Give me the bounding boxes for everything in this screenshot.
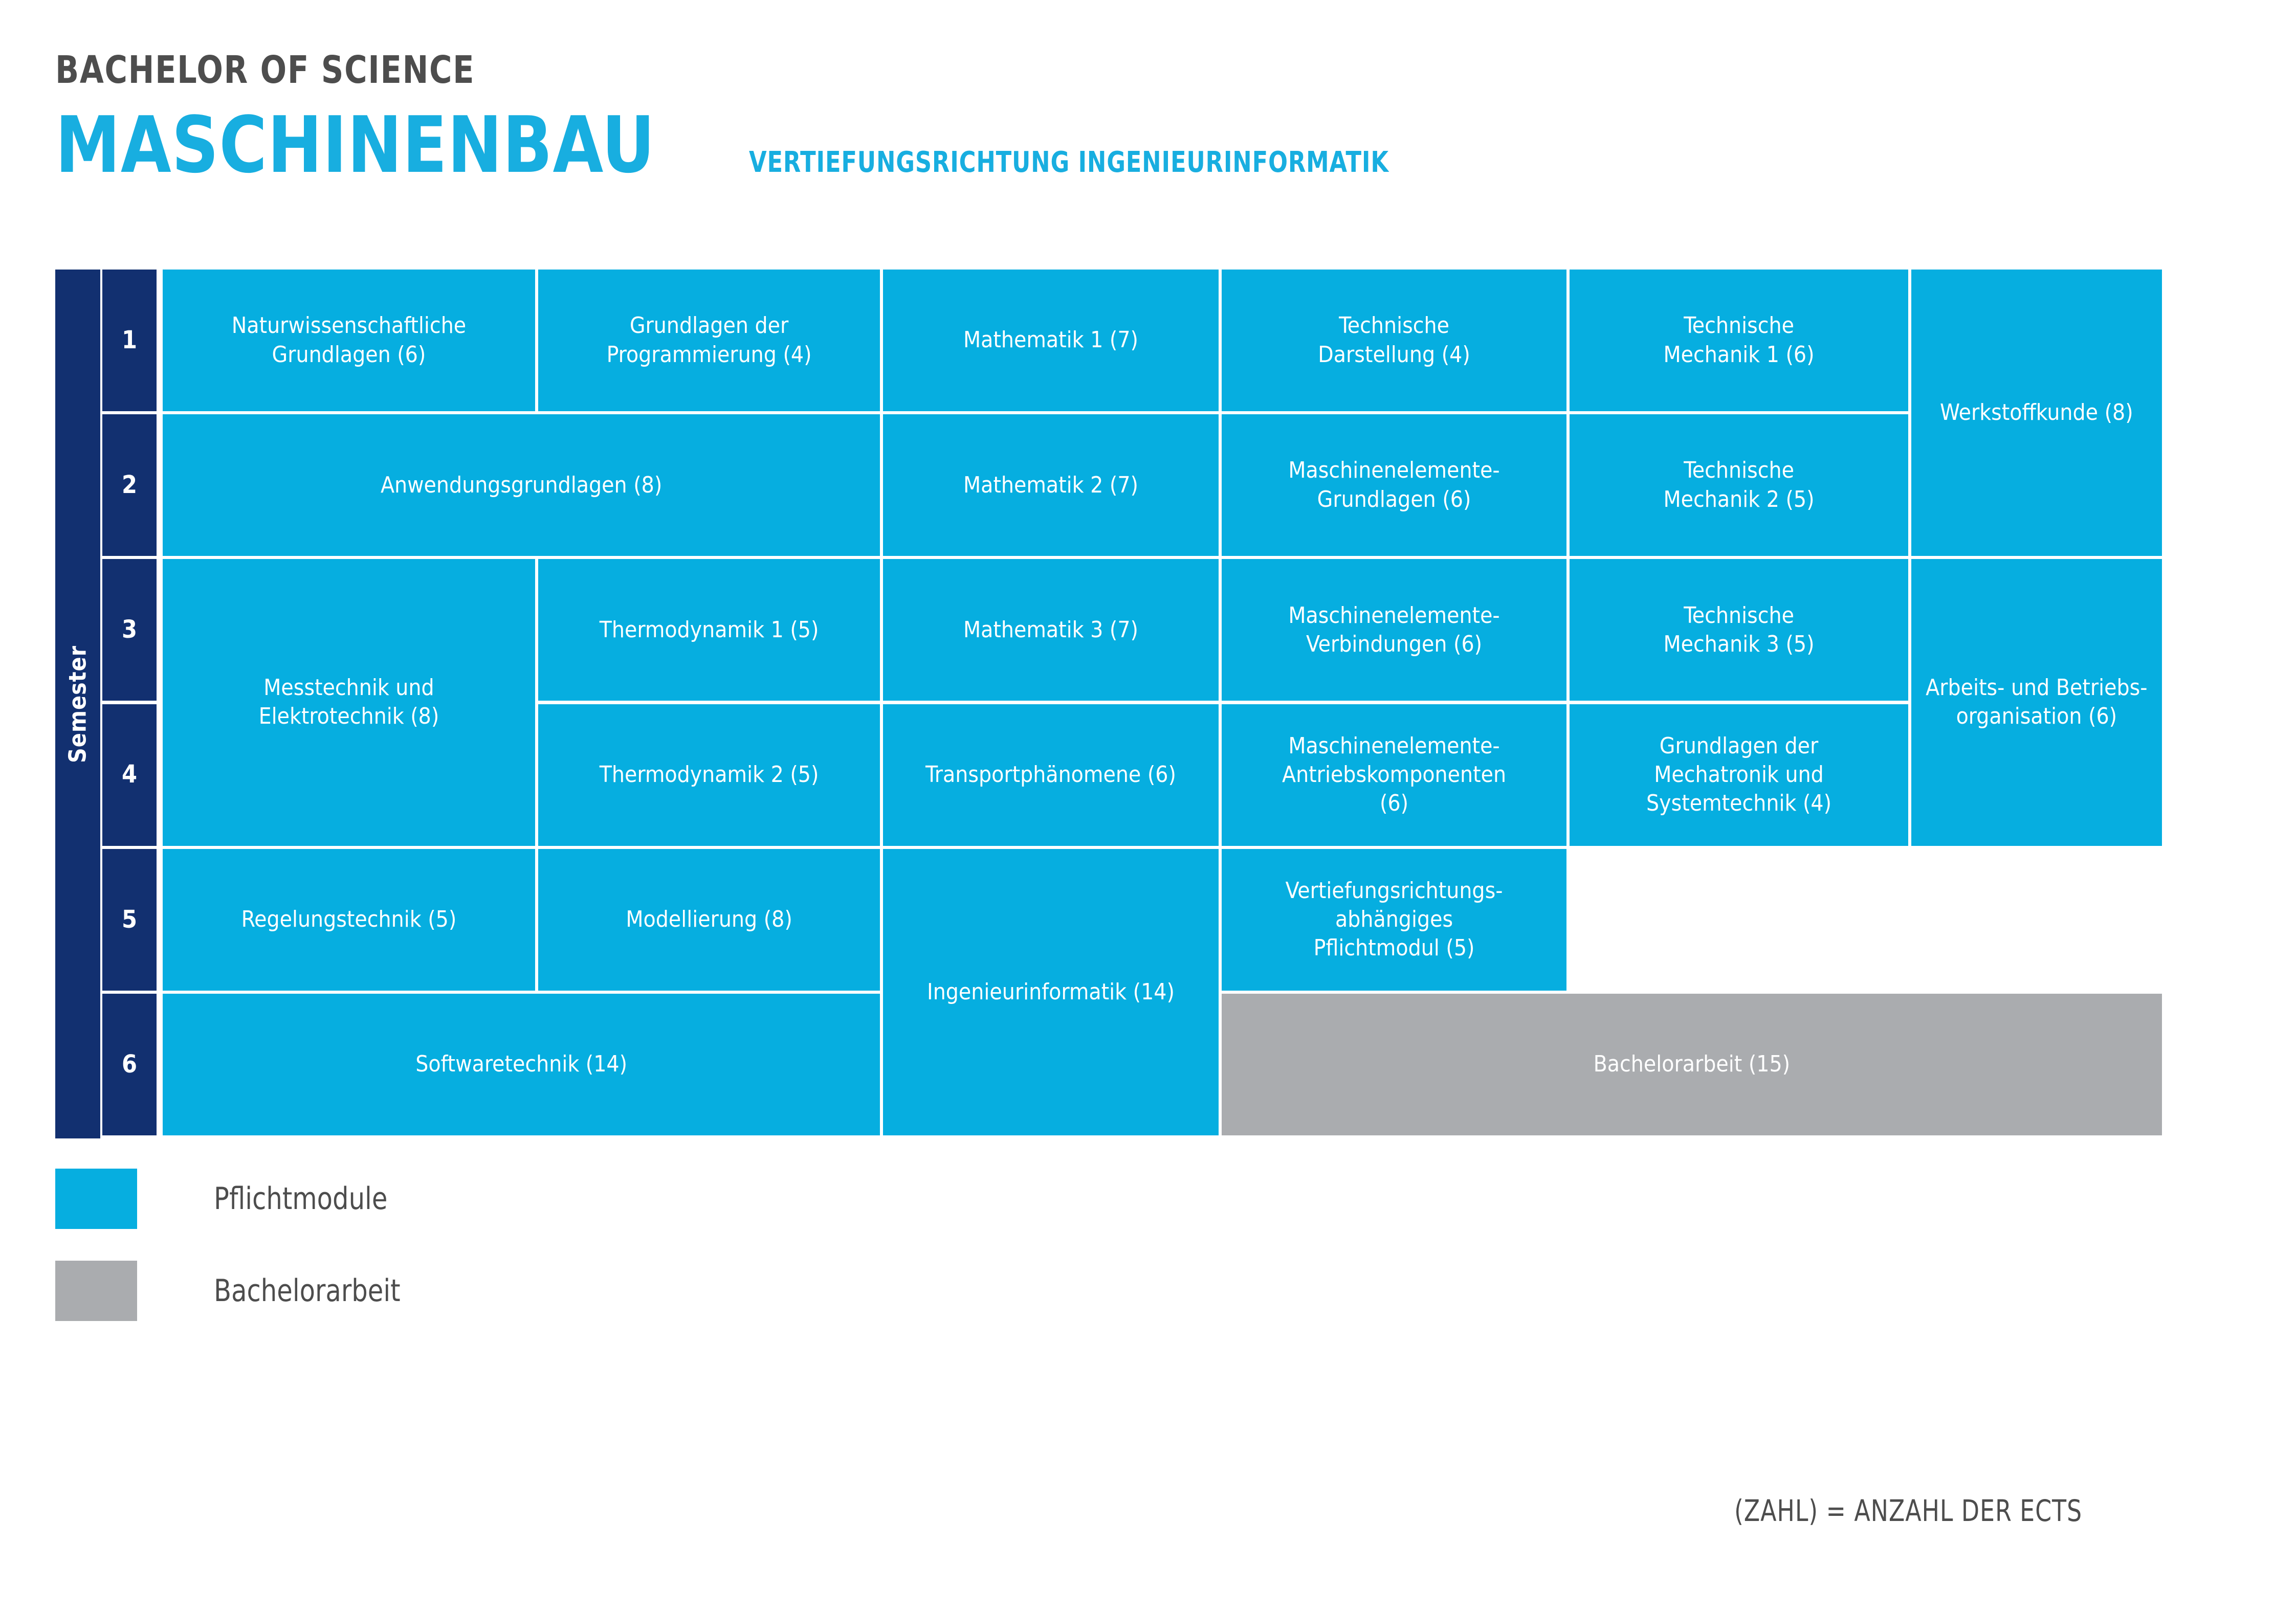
module-cell: Thermodynamik 2 (5)	[538, 704, 880, 846]
module-cell: Maschinenelemente- Verbindungen (6)	[1222, 559, 1567, 701]
semester-number-cell: 4	[102, 704, 157, 846]
module-cell: Naturwissenschaftliche Grundlagen (6)	[163, 270, 535, 411]
legend-swatch	[55, 1169, 137, 1229]
degree-label: BACHELOR OF SCIENCE	[55, 51, 1280, 89]
module-cell: Mathematik 2 (7)	[883, 414, 1218, 556]
legend-item: Bachelorarbeit	[55, 1261, 416, 1321]
module-cell: Mathematik 1 (7)	[883, 270, 1218, 411]
module-cell: Grundlagen der Mechatronik und Systemtec…	[1570, 704, 1908, 846]
module-cell: Technische Mechanik 1 (6)	[1570, 270, 1908, 411]
legend-swatch	[55, 1261, 137, 1321]
module-cell: Anwendungsgrundlagen (8)	[163, 414, 880, 556]
semester-number-cell: 1	[102, 270, 157, 411]
page-title: MASCHINENBAU	[55, 106, 655, 184]
specialization-label: VERTIEFUNGSRICHTUNG INGENIEURINFORMATIK	[749, 146, 1389, 179]
semester-number-cell: 2	[102, 414, 157, 556]
module-cell: Modellierung (8)	[538, 849, 880, 991]
module-cell: Transportphänomene (6)	[883, 704, 1218, 846]
semester-number-cell: 5	[102, 849, 157, 991]
legend-label: Bachelorarbeit	[214, 1273, 401, 1309]
module-cell: Thermodynamik 1 (5)	[538, 559, 880, 701]
module-cell: Werkstoffkunde (8)	[1911, 270, 2162, 556]
module-cell: Technische Darstellung (4)	[1222, 270, 1567, 411]
module-cell: Maschinenelemente- Antriebskomponenten (…	[1222, 704, 1567, 846]
module-cell: Technische Mechanik 3 (5)	[1570, 559, 1908, 701]
module-cell: Vertiefungsrichtungs- abhängiges Pflicht…	[1222, 849, 1567, 991]
module-cell: Ingenieurinformatik (14)	[883, 849, 1218, 1135]
curriculum-grid: Semester123456Naturwissenschaftliche Gru…	[55, 270, 2165, 1138]
legend-label: Pflichtmodule	[214, 1181, 387, 1217]
semester-axis-label: Semester	[55, 270, 100, 1138]
module-cell: Mathematik 3 (7)	[883, 559, 1218, 701]
module-cell: Grundlagen der Programmierung (4)	[538, 270, 880, 411]
module-cell: Maschinenelemente- Grundlagen (6)	[1222, 414, 1567, 556]
ects-footnote: (ZAHL) = ANZAHL DER ECTS	[1734, 1493, 2082, 1528]
module-cell: Messtechnik und Elektrotechnik (8)	[163, 559, 535, 845]
legend-item: Pflichtmodule	[55, 1169, 416, 1229]
legend: PflichtmoduleBachelorarbeit	[55, 1169, 416, 1353]
title-row: MASCHINENBAU VERTIEFUNGSRICHTUNG INGENIE…	[55, 106, 1549, 184]
module-cell: Technische Mechanik 2 (5)	[1570, 414, 1908, 556]
module-cell: Softwaretechnik (14)	[163, 994, 880, 1135]
semester-number-cell: 3	[102, 559, 157, 701]
semester-number-cell: 6	[102, 994, 157, 1135]
module-cell: Bachelorarbeit (15)	[1222, 994, 2162, 1135]
module-cell: Regelungstechnik (5)	[163, 849, 535, 991]
page-header: BACHELOR OF SCIENCE MASCHINENBAU VERTIEF…	[55, 51, 1549, 184]
module-cell: Arbeits- und Betriebs- organisation (6)	[1911, 559, 2162, 845]
